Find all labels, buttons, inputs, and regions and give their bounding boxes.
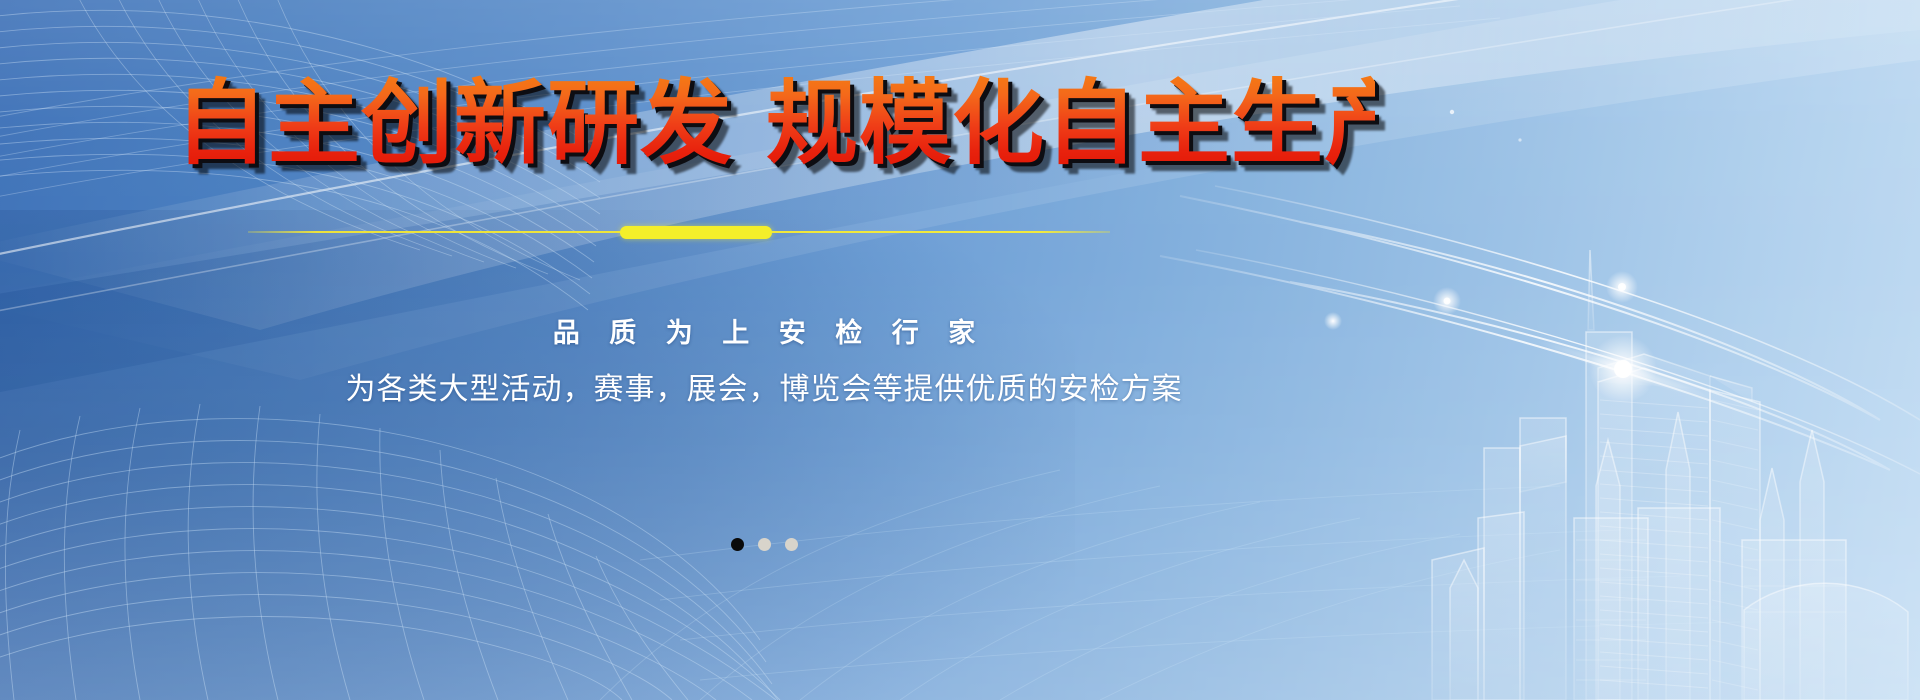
subtitle-primary: 品 质 为 上 安 检 行 家 [0,311,1528,350]
decorative-divider [248,226,1110,240]
hero-banner-slide: 自主创新研发 规模化自主生产 品 质 为 上 安 检 行 家 为各类大型活动，赛… [0,0,1920,700]
headline-container: 自主创新研发 规模化自主生产 [175,72,1375,176]
carousel-dot-1[interactable] [731,538,744,551]
carousel-dot-2[interactable] [758,538,771,551]
banner-content: 自主创新研发 规模化自主生产 品 质 为 上 安 检 行 家 为各类大型活动，赛… [0,0,1920,700]
page-title: 自主创新研发 规模化自主生产 [175,72,1375,176]
carousel-indicators[interactable] [0,538,1528,551]
subtitle-secondary: 为各类大型活动，赛事，展会，博览会等提供优质的安检方案 [0,364,1528,408]
divider-accent-bar [620,226,772,239]
carousel-dot-3[interactable] [785,538,798,551]
